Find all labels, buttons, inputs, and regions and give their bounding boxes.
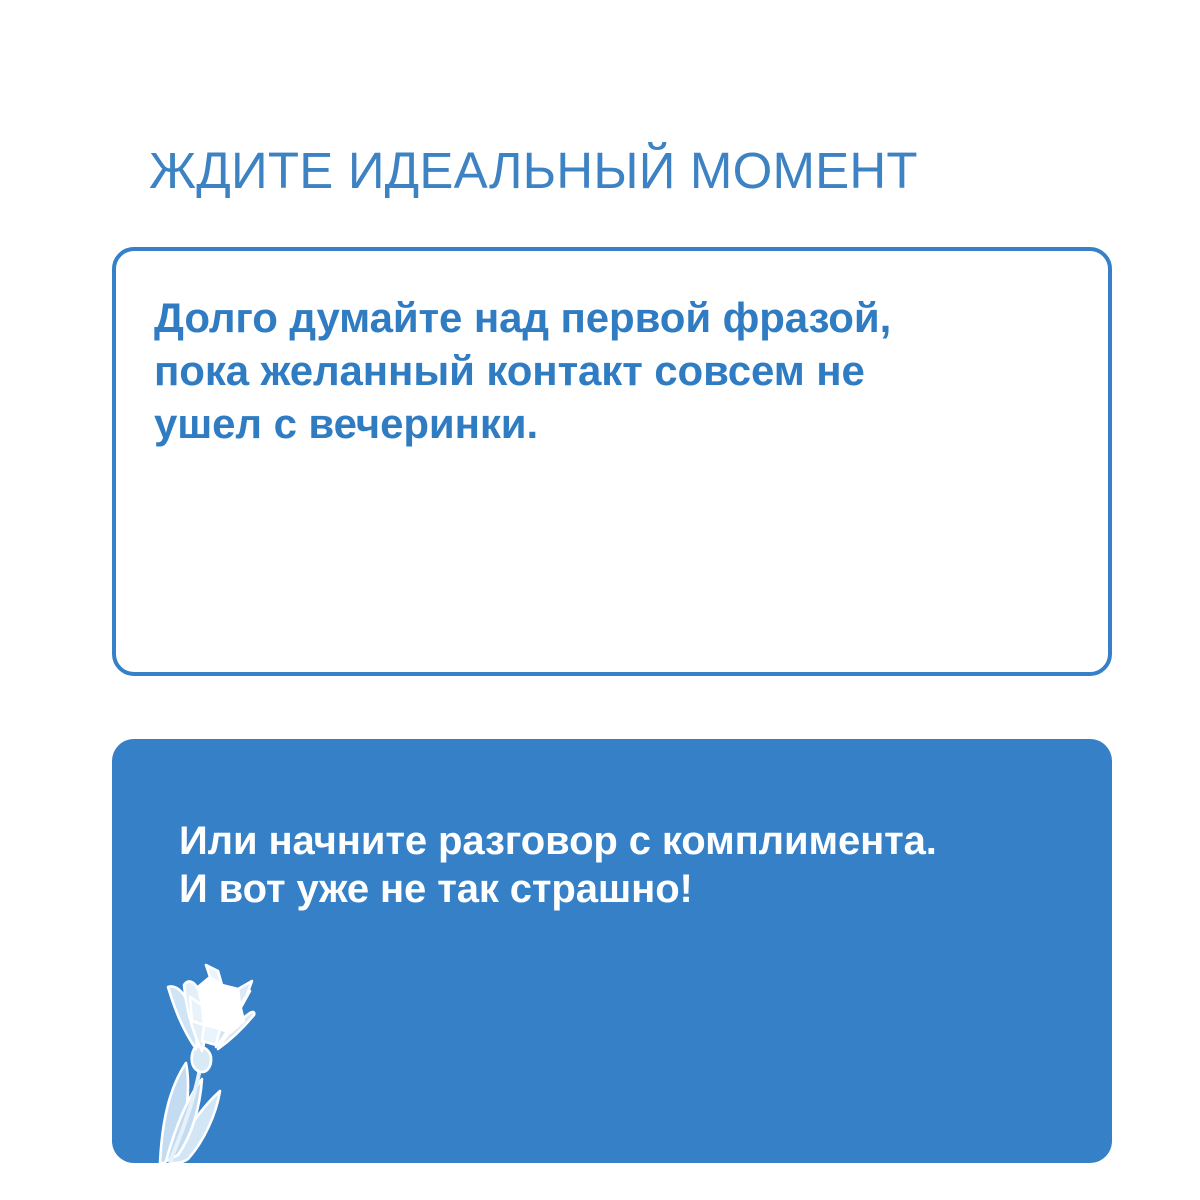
advice-card-outlined-text: Долго думайте над первой фразой, пока же… (154, 291, 1034, 450)
advice-line: И вот уже не так страшно! (179, 865, 1079, 913)
advice-line: Или начните разговор с комплимента. (179, 817, 1079, 865)
flower-icon (146, 963, 274, 1163)
advice-line: ушел с вечеринки. (154, 397, 1034, 450)
advice-line: Долго думайте над первой фразой, (154, 291, 1034, 344)
page-title: ЖДИТЕ ИДЕАЛЬНЫЙ МОМЕНТ (149, 142, 1109, 200)
advice-card-outlined: Долго думайте над первой фразой, пока же… (112, 247, 1112, 676)
advice-card-filled-text: Или начните разговор с комплимента. И во… (179, 817, 1079, 913)
slide-root: ЖДИТЕ ИДЕАЛЬНЫЙ МОМЕНТ Долго думайте над… (0, 0, 1200, 1200)
advice-card-filled: Или начните разговор с комплимента. И во… (112, 739, 1112, 1163)
advice-line: пока желанный контакт совсем не (154, 344, 1034, 397)
